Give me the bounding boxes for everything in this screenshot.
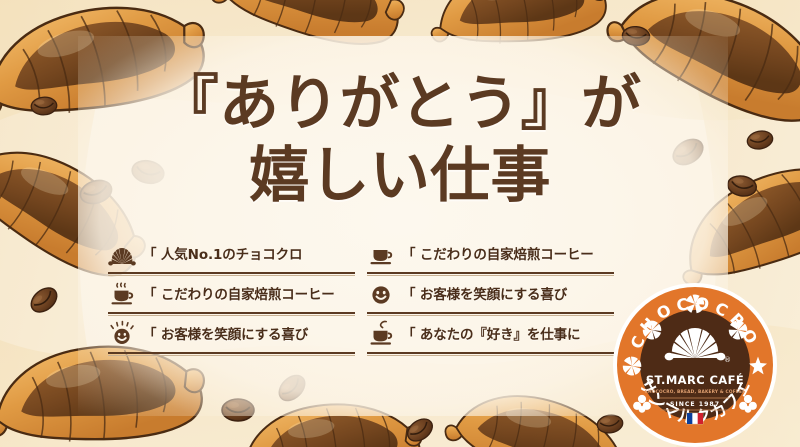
bullet-label: 「 人気No.1のチョコクロ [143, 243, 302, 263]
bullet-item: 「 人気No.1のチョコクロ [108, 236, 355, 276]
bullet-label: 「 こだわりの自家焙煎コーヒー [402, 243, 594, 263]
bullet-item: 「 こだわりの自家焙煎コーヒー [108, 276, 355, 316]
bullet-label: 「 お客様を笑顔にする喜び [402, 283, 567, 303]
smiley-face-icon [367, 278, 395, 308]
logo-brand-name: ST.MARC CAFÉ [646, 372, 744, 387]
bullet-divider [367, 352, 614, 356]
bullet-item: 「 こだわりの自家焙煎コーヒー [367, 236, 614, 276]
headline-line-1: 『ありがとう』が [0, 74, 800, 134]
headline-line-2: 嬉しい仕事 [0, 146, 800, 206]
logo-tagline: CHOCOCRO, BREAD, BAKERY & COFFEE [645, 389, 746, 395]
bullet-divider [108, 352, 355, 356]
bullet-label: 「 お客様を笑顔にする喜び [143, 323, 308, 343]
bullet-label: 「 あなたの『好き』を仕事に [402, 323, 580, 343]
recruitment-banner: 『ありがとう』が 嬉しい仕事 [0, 0, 800, 447]
bullet-item: 「 お客様を笑顔にする喜び [108, 316, 355, 356]
coffee-cup-wisp-icon [367, 318, 395, 348]
bullet-label: 「 こだわりの自家焙煎コーヒー [143, 283, 335, 303]
bullet-item: 「 あなたの『好き』を仕事に [367, 316, 614, 356]
st-marc-cafe-logo[interactable]: CHOCOCRO サンマルクカフェ ® S [612, 282, 778, 447]
coffee-cup-steam-icon [108, 278, 136, 308]
logo-trademark: ® [724, 356, 731, 364]
bullet-item: 「 お客様を笑顔にする喜び [367, 276, 614, 316]
headline: 『ありがとう』が 嬉しい仕事 [0, 74, 800, 206]
croissant-icon [108, 238, 136, 268]
smiley-sparkle-icon [108, 318, 136, 348]
logo-since: SINCE 1987 [670, 401, 720, 408]
french-flag-icon [687, 413, 703, 424]
coffee-cup-icon [367, 238, 395, 268]
bullet-list: 「 人気No.1のチョコクロ 「 こだわりの自家焙煎コーヒー [108, 236, 614, 356]
